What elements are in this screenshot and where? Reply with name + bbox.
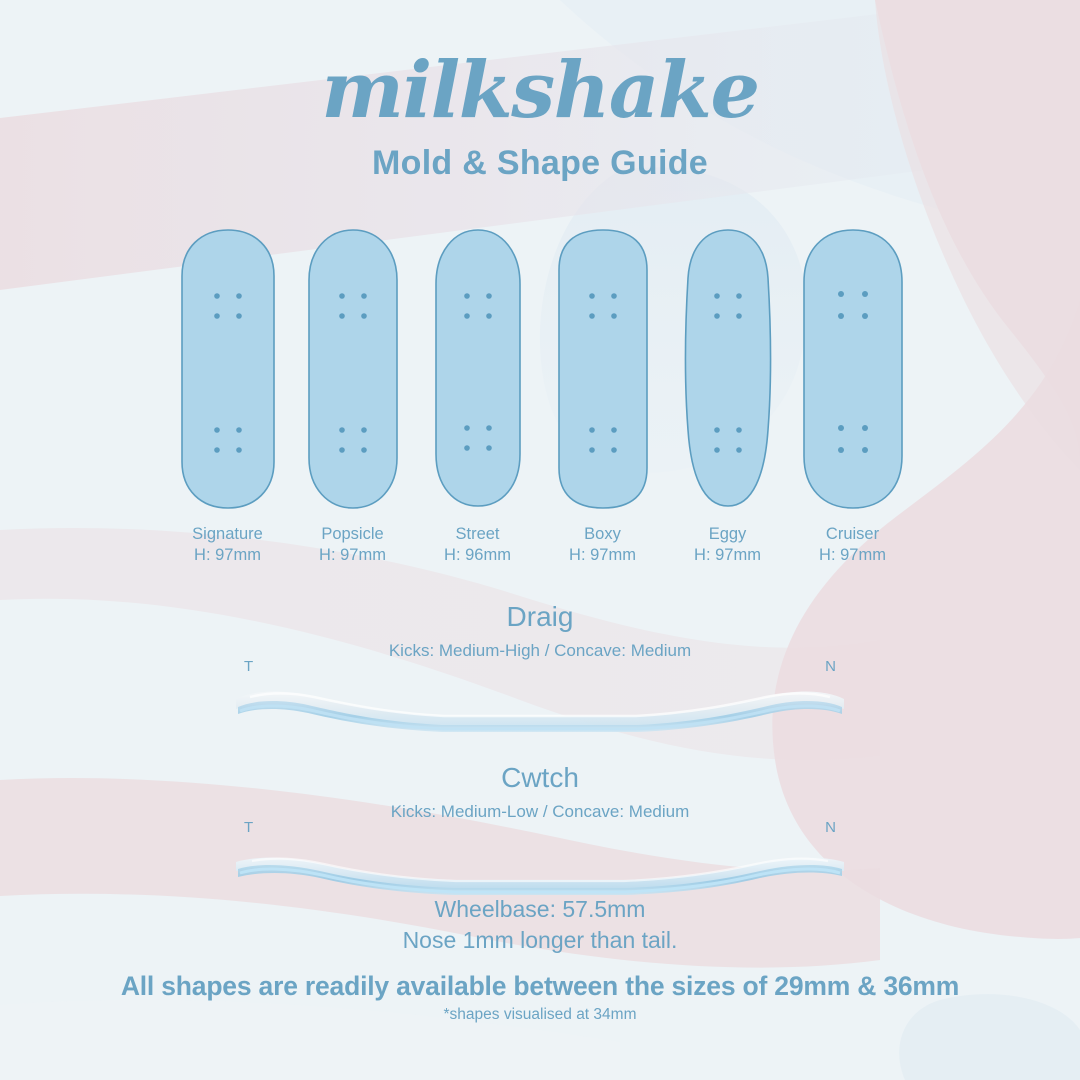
shape-item-signature[interactable]: Signature H: 97mm [165,228,290,566]
profile-specs: Kicks: Medium-Low / Concave: Medium [0,802,1080,822]
shape-name: Boxy [584,524,621,545]
profile-draig: Draig Kicks: Medium-High / Concave: Medi… [0,602,1080,747]
deck-shape-cruiser [798,228,908,510]
nose-note-text: Nose 1mm longer than tail. [0,928,1080,953]
deck-shape-popsicle [298,228,408,510]
nose-marker: N [825,819,836,836]
brand-title: milkshake [0,52,1080,130]
shape-height: H: 96mm [444,545,511,566]
shape-item-popsicle[interactable]: Popsicle H: 97mm [290,228,415,566]
deck-shape-boxy [548,228,658,510]
shape-height: H: 97mm [194,545,261,566]
shape-list: Signature H: 97mm Popsicle H: 97mm [0,228,1080,566]
shape-item-cruiser[interactable]: Cruiser H: 97mm [790,228,915,566]
shape-height: H: 97mm [819,545,886,566]
deck-shape-signature [173,228,283,510]
nose-marker: N [825,658,836,675]
visualised-note-text: *shapes visualised at 34mm [0,1006,1080,1023]
shape-item-boxy[interactable]: Boxy H: 97mm [540,228,665,566]
profile-name: Cwtch [0,763,1080,794]
deck-shape-street [423,228,533,510]
shape-name: Cruiser [826,524,879,545]
shape-height: H: 97mm [694,545,761,566]
shape-name: Eggy [709,524,747,545]
profile-cwtch: Cwtch Kicks: Medium-Low / Concave: Mediu… [0,763,1080,908]
profile-name: Draig [0,602,1080,633]
shape-name: Street [455,524,499,545]
wheelbase-text: Wheelbase: 57.5mm [0,897,1080,922]
shape-name: Signature [192,524,263,545]
shape-name: Popsicle [321,524,383,545]
profile-specs: Kicks: Medium-High / Concave: Medium [0,641,1080,661]
page-subtitle: Mold & Shape Guide [0,146,1080,180]
deck-profile-draig-art [230,667,850,747]
poster-root: milkshake Mold & Shape Guide Signature H… [0,0,1080,1080]
shape-item-street[interactable]: Street H: 96mm [415,228,540,566]
poster-header: milkshake Mold & Shape Guide [0,52,1080,180]
tail-marker: T [244,658,253,675]
shape-height: H: 97mm [319,545,386,566]
availability-text: All shapes are readily available between… [0,972,1080,1001]
tail-marker: T [244,819,253,836]
shape-height: H: 97mm [569,545,636,566]
deck-shape-eggy [673,228,783,510]
shape-item-eggy[interactable]: Eggy H: 97mm [665,228,790,566]
